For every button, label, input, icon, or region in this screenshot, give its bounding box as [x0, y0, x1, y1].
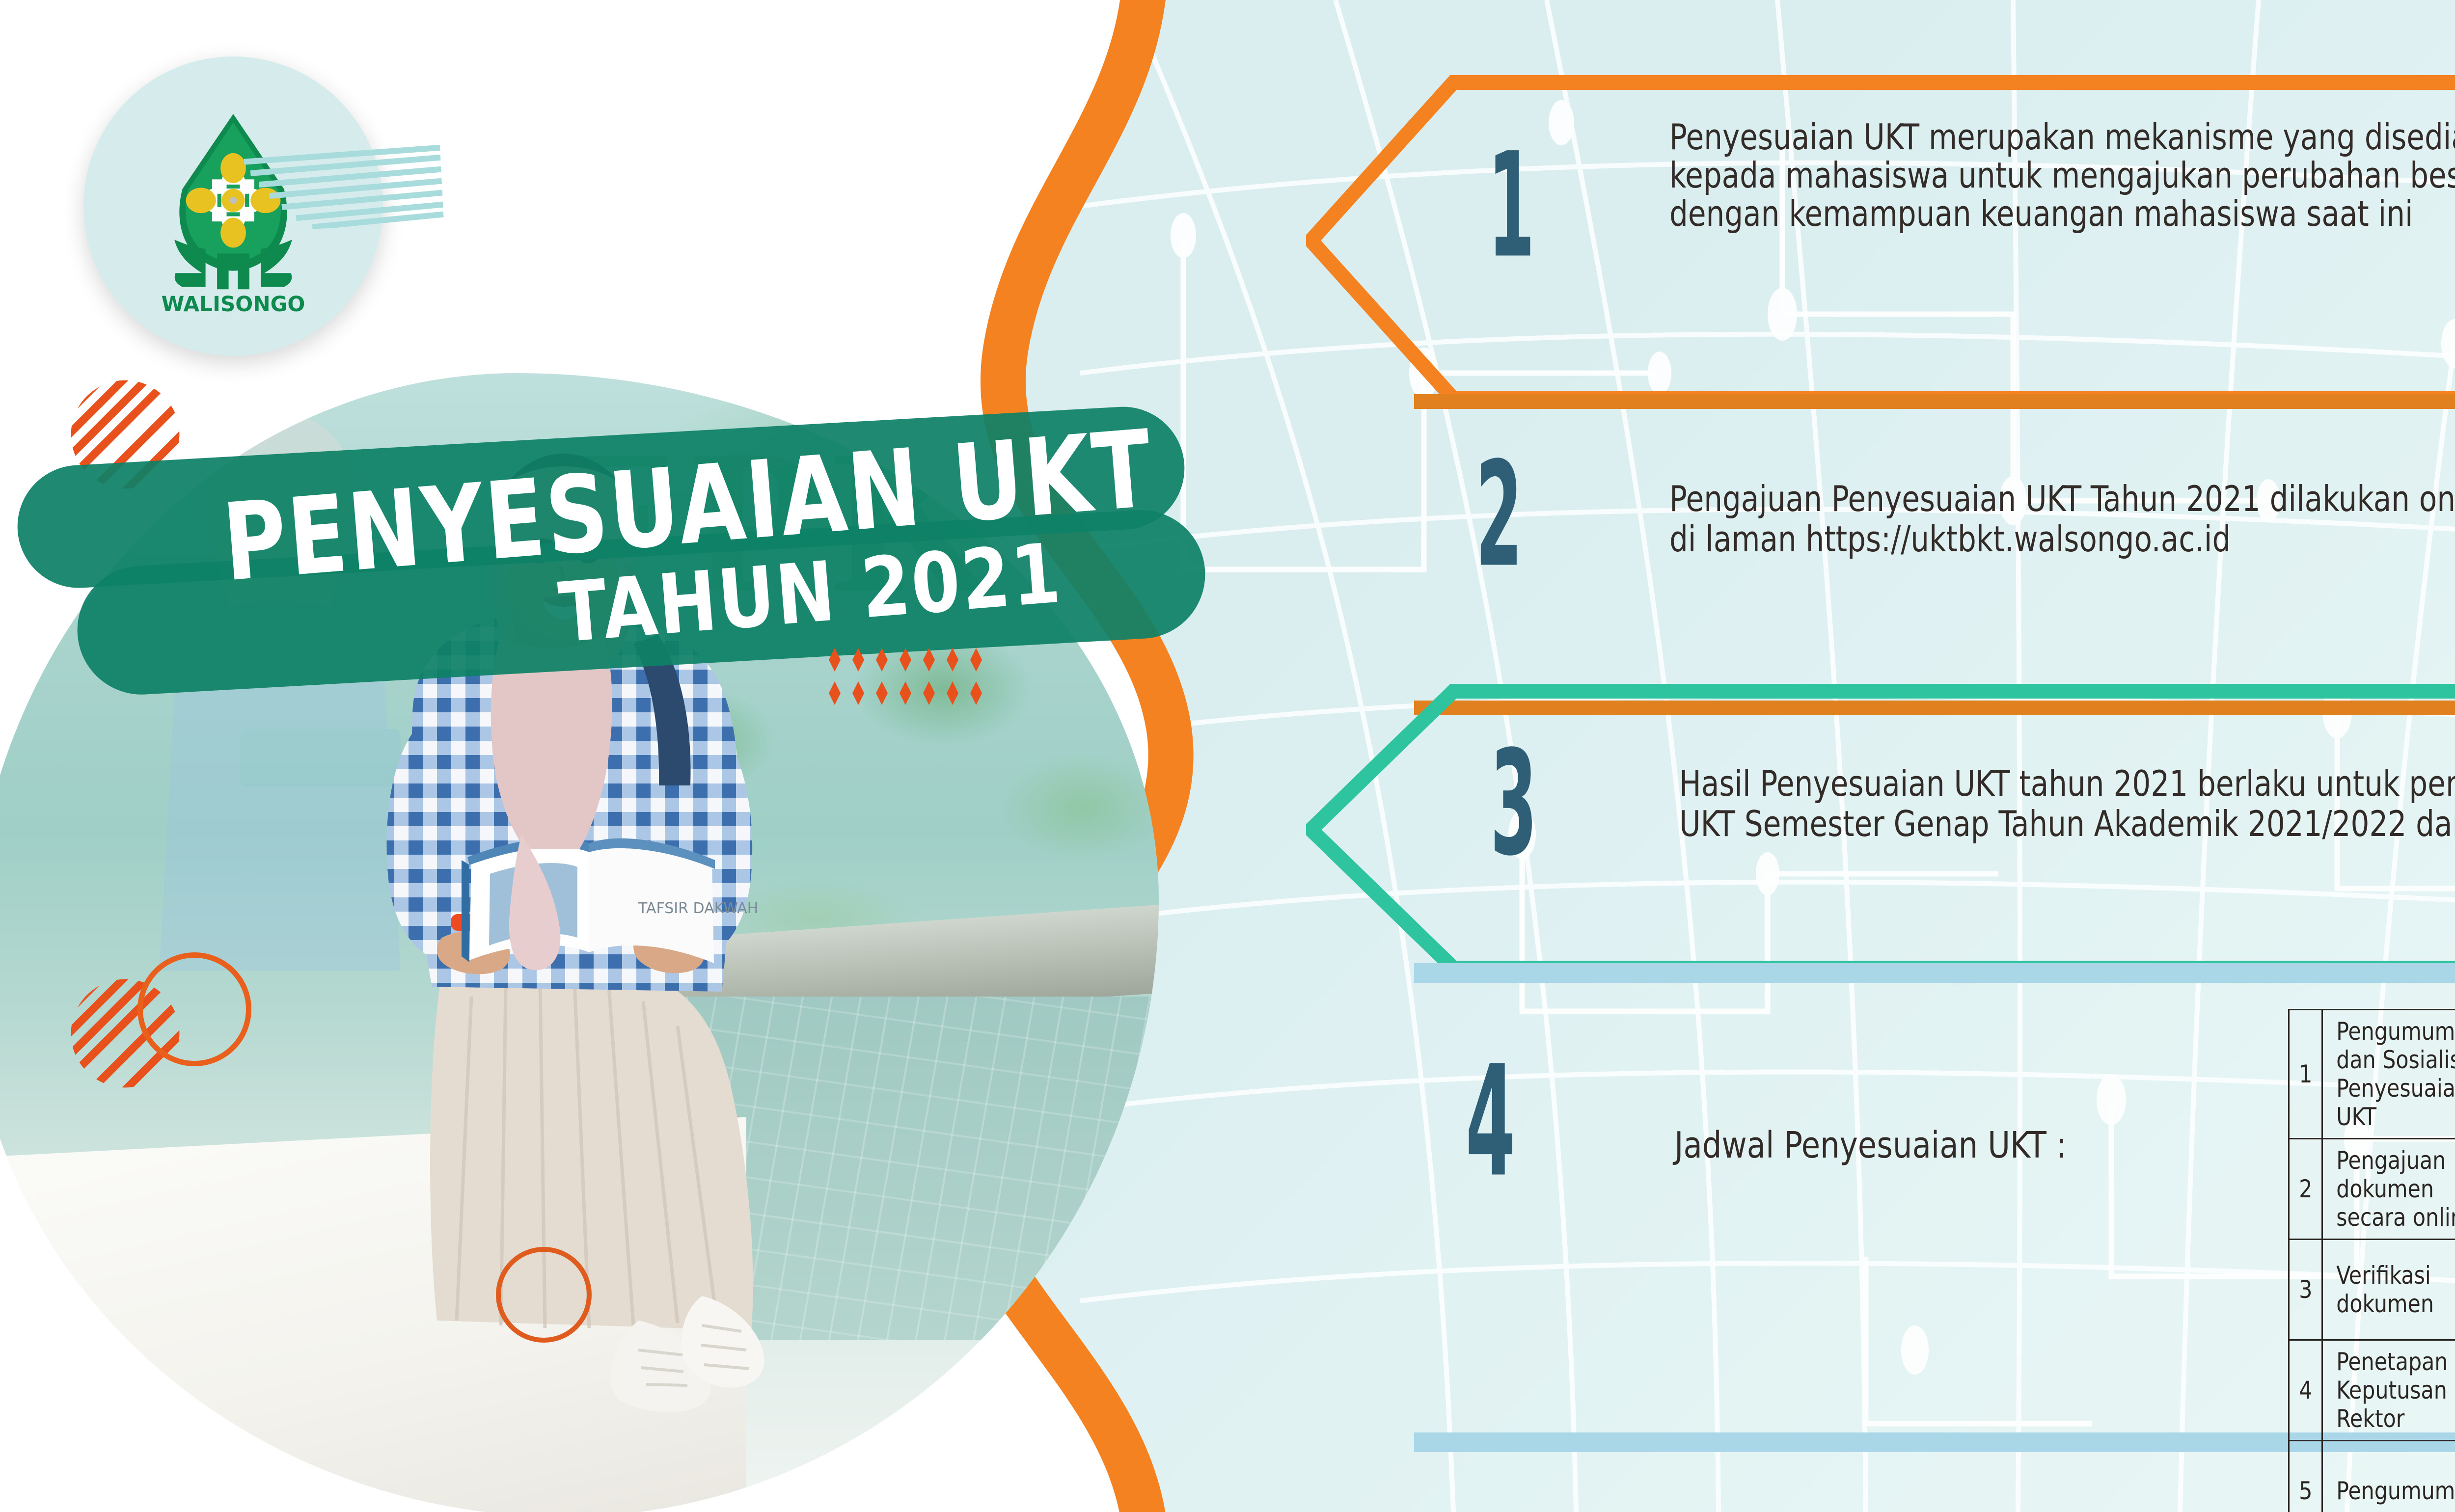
table-row: 1 Pengumuman dan Sosialisai Penyesuaian … [2289, 1010, 2455, 1139]
svg-text:TAFSIR DAKWAH: TAFSIR DAKWAH [638, 900, 758, 917]
row-activity: Pengumuman [2326, 1441, 2455, 1512]
item-2-line-1: Pengajuan Penyesuaian UKT Tahun 2021 dil… [1669, 479, 2455, 519]
row-number: 4 [2290, 1340, 2321, 1441]
item-1-number: 1 [1488, 134, 1535, 278]
item-4-label: Jadwal Penyesuaian UKT : [1674, 1124, 2067, 1166]
poster-canvas: WALISONGO FPK [0, 0, 2455, 1512]
item-1-line-1: Penyesuaian UKT merupakan mekanisme yang… [1669, 118, 2455, 156]
item-2-number: 2 [1475, 443, 1523, 587]
schedule-table-body: 1 Pengumuman dan Sosialisai Penyesuaian … [2289, 1010, 2455, 1512]
table-row: 2 Pengajuan dokumen secara online 3 - 12… [2289, 1139, 2455, 1240]
row-activity: Pengajuan dokumen secara online [2326, 1139, 2455, 1240]
row-number: 3 [2290, 1240, 2321, 1340]
row-number: 2 [2290, 1139, 2321, 1240]
item-4-number: 4 [1466, 1046, 1516, 1199]
row-number: 5 [2290, 1441, 2321, 1512]
item-1-line-2: kepada mahasiswa untuk mengajukan peruba… [1669, 156, 2455, 194]
row-activity: Pengumuman dan Sosialisai Penyesuaian UK… [2326, 1010, 2455, 1139]
diamond-dots-decor [825, 638, 1021, 727]
logo-wordmark: WALISONGO [162, 292, 305, 316]
row-number: 1 [2290, 1010, 2321, 1139]
table-row: 3 Verifikasi dokumen 15 - 17 November 20… [2289, 1240, 2455, 1340]
item-3-number: 3 [1490, 731, 1537, 876]
table-row: 5 Pengumuman 25 November 2021 [2289, 1441, 2455, 1512]
speed-lines-decor [244, 141, 503, 233]
item-2-text: Pengajuan Penyesuaian UKT Tahun 2021 dil… [1669, 479, 2455, 559]
item-3-line-1: Hasil Penyesuaian UKT tahun 2021 berlaku… [1679, 763, 2455, 804]
row-activity: Penetapan Keputusan Rektor [2326, 1340, 2455, 1441]
schedule-table: 1 Pengumuman dan Sosialisai Penyesuaian … [2288, 1009, 2455, 1512]
item-3-text: Hasil Penyesuaian UKT tahun 2021 berlaku… [1679, 763, 2455, 844]
item-1-text: Penyesuaian UKT merupakan mekanisme yang… [1669, 118, 2455, 233]
table-row: 4 Penetapan Keputusan Rektor 24 November… [2289, 1340, 2455, 1441]
circle-ring-decor-2 [496, 1247, 592, 1343]
item-1-line-3: dengan kemampuan keuangan mahasiswa saat… [1669, 194, 2455, 233]
item-2-line-2: di laman https://uktbkt.walsongo.ac.id [1669, 519, 2455, 559]
circle-ring-decor-1 [137, 952, 251, 1066]
row-activity: Verifikasi dokumen [2326, 1240, 2455, 1340]
item-3-line-2: UKT Semester Genap Tahun Akademik 2021/2… [1679, 804, 2455, 844]
